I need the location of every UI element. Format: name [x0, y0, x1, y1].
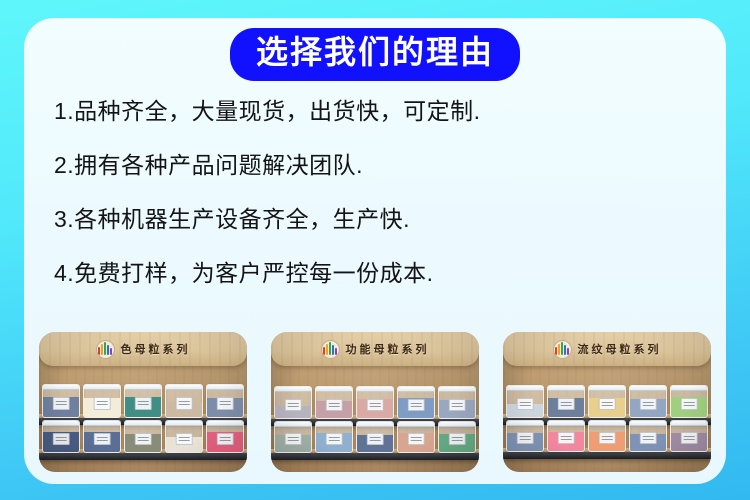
container-label: [640, 398, 657, 410]
container-label: [367, 433, 384, 445]
container-label: [94, 433, 111, 445]
shelf-rail: [271, 453, 479, 460]
container-label: [94, 397, 111, 410]
pellet-container: [547, 385, 585, 418]
container-label: [53, 397, 70, 410]
container-lid: [506, 386, 544, 391]
container-lid: [83, 421, 121, 426]
shelf-rail: [39, 453, 247, 460]
container-label: [285, 433, 302, 445]
reason-item-2: 2.拥有各种产品问题解决团队.: [54, 154, 694, 177]
pellet-container: [42, 420, 80, 453]
container-lid: [315, 422, 353, 427]
container-label: [681, 432, 698, 444]
pellet-container: [397, 421, 435, 453]
pellet-container: [315, 386, 353, 419]
product-photo-strip: 色母粒系列 功能母粒系列 流纹母粒系列: [0, 332, 750, 474]
container-lid: [165, 421, 203, 426]
container-lid: [42, 421, 80, 426]
pellet-container: [274, 421, 312, 453]
shelf-rail: [503, 452, 711, 459]
container-label: [367, 399, 384, 411]
container-label: [517, 398, 534, 410]
container-label: [53, 433, 70, 445]
pellet-container: [547, 420, 585, 452]
rainbow-bars-logo-icon: [553, 340, 572, 359]
pellet-container: [206, 384, 244, 418]
container-label: [408, 433, 425, 445]
shelf-sign-text: 流纹母粒系列: [578, 341, 662, 357]
pellet-container: [670, 385, 708, 418]
pellet-container: [165, 384, 203, 418]
pellet-container: [83, 384, 121, 418]
container-label: [558, 432, 575, 444]
container-label: [558, 398, 575, 410]
tub-row: [39, 420, 247, 453]
pellet-container: [588, 385, 626, 418]
pellet-container: [83, 420, 121, 453]
pellet-container: [356, 386, 394, 419]
container-label: [217, 397, 234, 410]
container-lid: [588, 386, 626, 391]
pellet-container: [629, 420, 667, 452]
container-lid: [124, 421, 162, 426]
shelf-sign-board: 色母粒系列: [39, 332, 247, 366]
tub-row: [503, 420, 711, 452]
container-lid: [356, 422, 394, 427]
container-lid: [670, 386, 708, 391]
pellet-container: [588, 420, 626, 452]
container-lid: [83, 385, 121, 390]
pellet-container: [42, 384, 80, 418]
page-title-wrap: 选择我们的理由: [0, 28, 750, 81]
container-lid: [124, 385, 162, 390]
pellet-container: [438, 421, 476, 453]
pellet-container: [165, 420, 203, 453]
container-lid: [356, 387, 394, 392]
container-label: [599, 432, 616, 444]
pellet-container: [506, 385, 544, 418]
page-title: 选择我们的理由: [256, 34, 494, 72]
container-lid: [206, 385, 244, 390]
container-label: [449, 433, 466, 445]
container-lid: [629, 421, 667, 426]
reason-item-3: 3.各种机器生产设备齐全，生产快.: [54, 208, 694, 231]
pellet-container: [506, 420, 544, 452]
shelf-sign-text: 色母粒系列: [121, 341, 191, 357]
page-title-badge: 选择我们的理由: [230, 28, 520, 81]
pellet-container: [397, 386, 435, 419]
container-label: [681, 398, 698, 410]
reason-item-4: 4.免费打样，为客户严控每一份成本.: [54, 262, 694, 285]
product-photo-1: 色母粒系列: [39, 332, 247, 472]
pellet-container: [356, 421, 394, 453]
product-photo-2: 功能母粒系列: [271, 332, 479, 472]
pellet-container: [438, 386, 476, 419]
pellet-container: [206, 420, 244, 453]
container-label: [599, 398, 616, 410]
container-lid: [547, 421, 585, 426]
container-lid: [438, 422, 476, 427]
container-lid: [165, 385, 203, 390]
container-lid: [397, 422, 435, 427]
container-label: [176, 397, 193, 410]
rainbow-bars-logo-icon: [96, 340, 115, 359]
promo-banner: 选择我们的理由 1.品种齐全，大量现货，出货快，可定制. 2.拥有各种产品问题解…: [0, 0, 750, 500]
pellet-container: [629, 385, 667, 418]
container-lid: [547, 386, 585, 391]
product-photo-3: 流纹母粒系列: [503, 332, 711, 472]
container-label: [135, 433, 152, 445]
container-lid: [274, 422, 312, 427]
pellet-container: [124, 384, 162, 418]
pellet-container: [670, 420, 708, 452]
shelf-sign-text: 功能母粒系列: [346, 341, 430, 357]
container-lid: [315, 387, 353, 392]
shelf-sign-board: 功能母粒系列: [271, 332, 479, 366]
reason-item-1: 1.品种齐全，大量现货，出货快，可定制.: [54, 100, 694, 123]
container-label: [176, 433, 193, 445]
container-label: [217, 433, 234, 445]
reasons-list: 1.品种齐全，大量现货，出货快，可定制. 2.拥有各种产品问题解决团队. 3.各…: [54, 100, 694, 285]
container-label: [408, 399, 425, 411]
rainbow-bars-logo-icon: [321, 340, 340, 359]
tub-row: [503, 385, 711, 418]
container-label: [449, 399, 466, 411]
container-lid: [670, 421, 708, 426]
container-lid: [397, 387, 435, 392]
container-lid: [42, 385, 80, 390]
tub-row: [39, 384, 247, 418]
pellet-container: [274, 386, 312, 419]
container-label: [135, 397, 152, 410]
container-label: [285, 399, 302, 411]
container-lid: [506, 421, 544, 426]
container-lid: [206, 421, 244, 426]
shelf-sign-board: 流纹母粒系列: [503, 332, 711, 366]
pellet-container: [124, 420, 162, 453]
tub-row: [271, 421, 479, 453]
container-label: [640, 432, 657, 444]
container-lid: [438, 387, 476, 392]
container-label: [326, 399, 343, 411]
container-label: [517, 432, 534, 444]
container-lid: [588, 421, 626, 426]
container-lid: [629, 386, 667, 391]
container-label: [326, 433, 343, 445]
pellet-container: [315, 421, 353, 453]
container-lid: [274, 387, 312, 392]
tub-row: [271, 386, 479, 419]
